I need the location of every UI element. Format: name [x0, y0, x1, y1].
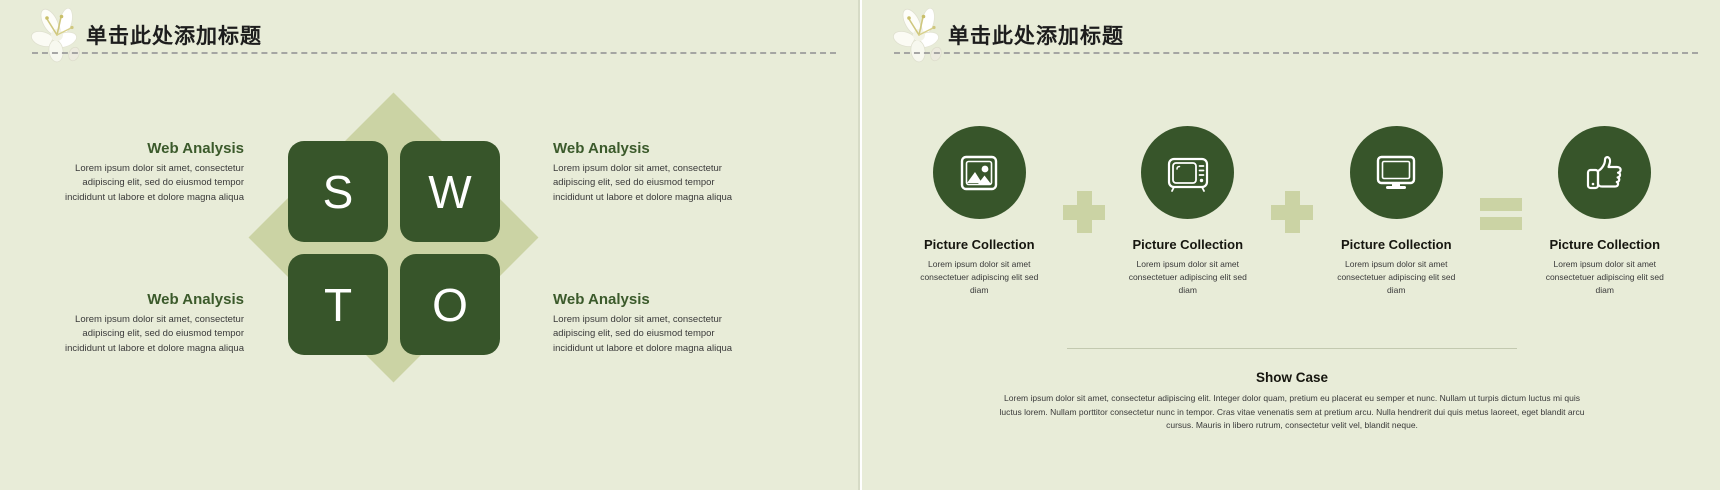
- item-title: Picture Collection: [902, 237, 1057, 252]
- equation-item-1[interactable]: Picture Collection Lorem ipsum dolor sit…: [902, 126, 1057, 298]
- swot-heading: Web Analysis: [553, 291, 749, 308]
- header-divider: [894, 52, 1698, 54]
- swot-cell-s[interactable]: S: [288, 141, 388, 242]
- equals-operator-icon: [1480, 191, 1522, 233]
- icon-circle[interactable]: [933, 126, 1026, 219]
- retro-television-icon: [1166, 153, 1210, 193]
- thumbs-up-icon: [1584, 152, 1626, 194]
- plus-operator-icon-1: [1063, 191, 1105, 233]
- icon-circle[interactable]: [1141, 126, 1234, 219]
- item-title: Picture Collection: [1528, 237, 1683, 252]
- icon-circle[interactable]: [1558, 126, 1651, 219]
- swot-text-top-right: Web Analysis Lorem ipsum dolor sit amet,…: [553, 140, 749, 205]
- swot-body: Lorem ipsum dolor sit amet, consectetur …: [553, 313, 749, 356]
- swot-text-bottom-right: Web Analysis Lorem ipsum dolor sit amet,…: [553, 291, 749, 356]
- swot-body: Lorem ipsum dolor sit amet, consectetur …: [48, 162, 244, 205]
- slide-picture-collection: 单击此处添加标题 Picture Collection Lorem ipsum …: [860, 0, 1720, 490]
- item-body: Lorem ipsum dolor sit amet consectetuer …: [910, 258, 1048, 298]
- showcase-body: Lorem ipsum dolor sit amet, consectetur …: [992, 392, 1592, 433]
- swot-cell-w[interactable]: W: [400, 141, 500, 242]
- showcase-divider: [1067, 348, 1517, 349]
- swot-cell-t[interactable]: T: [288, 254, 388, 355]
- swot-heading: Web Analysis: [553, 140, 749, 157]
- swot-cell-o[interactable]: O: [400, 254, 500, 355]
- item-body: Lorem ipsum dolor sit amet consectetuer …: [1119, 258, 1257, 298]
- swot-heading: Web Analysis: [48, 140, 244, 157]
- swot-text-top-left: Web Analysis Lorem ipsum dolor sit amet,…: [48, 140, 244, 205]
- desktop-monitor-icon: [1374, 153, 1418, 193]
- page-title: 单击此处添加标题: [948, 20, 1124, 50]
- image-photo-icon: [958, 152, 1000, 194]
- icon-circle[interactable]: [1350, 126, 1443, 219]
- slide-header-right: 单击此处添加标题: [862, 8, 1720, 54]
- item-title: Picture Collection: [1319, 237, 1474, 252]
- swot-body: Lorem ipsum dolor sit amet, consectetur …: [48, 313, 244, 356]
- equation-item-3[interactable]: Picture Collection Lorem ipsum dolor sit…: [1319, 126, 1474, 298]
- slide-deck: 单击此处添加标题 S W T O Web Analysis Lorem ipsu…: [0, 0, 1720, 490]
- equation-item-2[interactable]: Picture Collection Lorem ipsum dolor sit…: [1111, 126, 1266, 298]
- item-body: Lorem ipsum dolor sit amet consectetuer …: [1536, 258, 1674, 298]
- swot-heading: Web Analysis: [48, 291, 244, 308]
- lily-flower-icon: [892, 8, 954, 64]
- slide-swot: 单击此处添加标题 S W T O Web Analysis Lorem ipsu…: [0, 0, 860, 490]
- icon-equation-row: Picture Collection Lorem ipsum dolor sit…: [902, 126, 1682, 298]
- showcase-title: Show Case: [862, 370, 1720, 385]
- equation-item-4[interactable]: Picture Collection Lorem ipsum dolor sit…: [1528, 126, 1683, 298]
- item-body: Lorem ipsum dolor sit amet consectetuer …: [1327, 258, 1465, 298]
- swot-text-bottom-left: Web Analysis Lorem ipsum dolor sit amet,…: [48, 291, 244, 356]
- swot-grid: S W T O: [288, 141, 500, 359]
- swot-body: Lorem ipsum dolor sit amet, consectetur …: [553, 162, 749, 205]
- swot-diagram: S W T O Web Analysis Lorem ipsum dolor s…: [0, 0, 858, 490]
- item-title: Picture Collection: [1111, 237, 1266, 252]
- plus-operator-icon-2: [1271, 191, 1313, 233]
